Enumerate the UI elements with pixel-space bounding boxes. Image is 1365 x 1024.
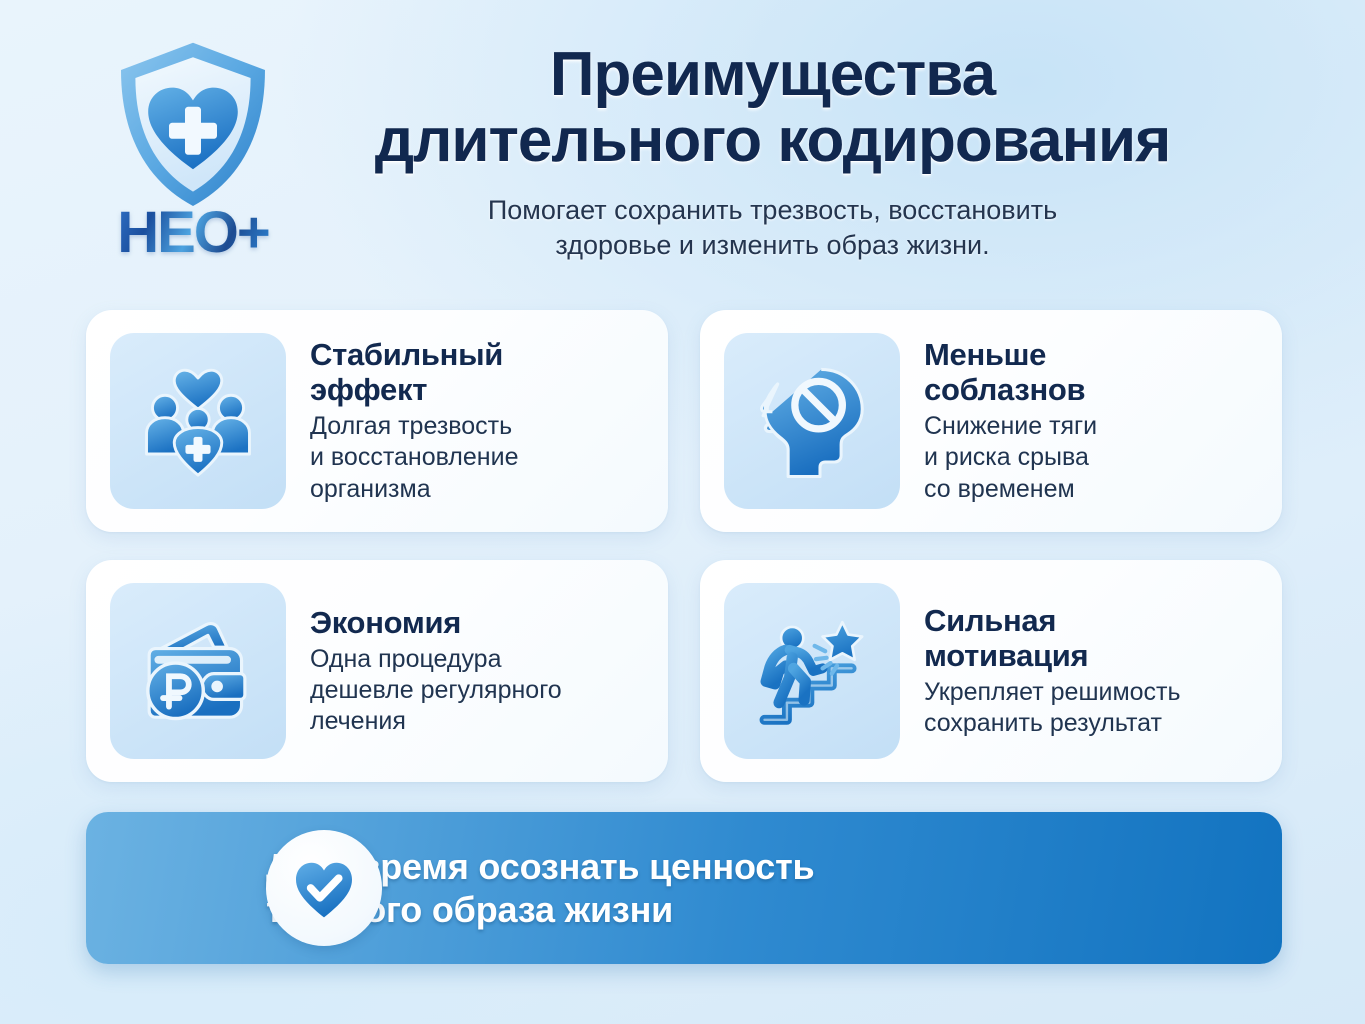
brand-wordmark: НЕО+ [117,204,269,262]
benefits-grid: Стабильный эффект Долгая трезвость и вос… [86,310,1282,782]
card-title: Сильная мотивация [924,603,1181,673]
card-title-line-1: Стабильный [310,337,518,372]
heart-check-circle-icon [266,830,382,946]
head-prohibition-icon [724,333,900,509]
title-block: Преимущества длительного кодирования Пом… [275,42,1270,263]
card-title-line-1: Сильная [924,603,1181,638]
card-text: Сильная мотивация Укрепляет решимость со… [900,603,1185,740]
card-description: Долгая трезвость и восстановление органи… [310,411,518,505]
card-text: Экономия Одна процедура дешевле регулярн… [286,605,566,738]
family-heart-plus-icon [110,333,286,509]
benefit-card-strong-motivation: Сильная мотивация Укрепляет решимость со… [700,560,1282,782]
card-desc-line-2: сохранить результат [924,708,1181,739]
card-desc-line-1: Снижение тяги [924,411,1097,442]
card-desc-line-3: со временем [924,474,1097,505]
card-title-line-1: Экономия [310,605,562,640]
card-desc-line-3: организма [310,474,518,505]
card-title-line-2: соблазнов [924,372,1097,407]
card-description: Снижение тяги и риска срыва со временем [924,411,1097,505]
page-subtitle: Помогает сохранить трезвость, восстанови… [275,193,1270,263]
page-subtitle-line-2: здоровье и изменить образ жизни. [275,228,1270,263]
card-text: Меньше соблазнов Снижение тяги и риска с… [900,337,1101,505]
card-title: Меньше соблазнов [924,337,1097,407]
page-title: Преимущества длительного кодирования [275,42,1270,175]
card-desc-line-1: Укрепляет решимость [924,677,1181,708]
card-title-line-2: эффект [310,372,518,407]
person-climbing-stairs-star-icon [724,583,900,759]
infographic-page: НЕО+ Преимущества длительного кодировани… [0,0,1365,1024]
card-description: Одна процедура дешевле регулярного лечен… [310,644,562,738]
benefit-card-savings: Экономия Одна процедура дешевле регулярн… [86,560,668,782]
benefit-card-fewer-temptations: Меньше соблазнов Снижение тяги и риска с… [700,310,1282,532]
card-title: Стабильный эффект [310,337,518,407]
brand-logo: НЕО+ [78,38,308,262]
card-description: Укрепляет решимость сохранить результат [924,677,1181,740]
page-title-line-1: Преимущества [275,42,1270,108]
shield-heart-plus-icon [113,38,273,210]
card-title: Экономия [310,605,562,640]
card-desc-line-3: лечения [310,706,562,737]
card-desc-line-2: и восстановление [310,442,518,473]
card-text: Стабильный эффект Долгая трезвость и вос… [286,337,522,505]
benefit-card-stable-effect: Стабильный эффект Долгая трезвость и вос… [86,310,668,532]
card-desc-line-1: Долгая трезвость [310,411,518,442]
card-desc-line-1: Одна процедура [310,644,562,675]
page-title-line-2: длительного кодирования [275,108,1270,174]
card-title-line-2: мотивация [924,638,1181,673]
card-desc-line-2: и риска срыва [924,442,1097,473]
card-desc-line-2: дешевле регулярного [310,675,562,706]
page-subtitle-line-1: Помогает сохранить трезвость, восстанови… [275,193,1270,228]
card-title-line-1: Меньше [924,337,1097,372]
wallet-ruble-coin-icon [110,583,286,759]
header: НЕО+ Преимущества длительного кодировани… [0,0,1365,305]
